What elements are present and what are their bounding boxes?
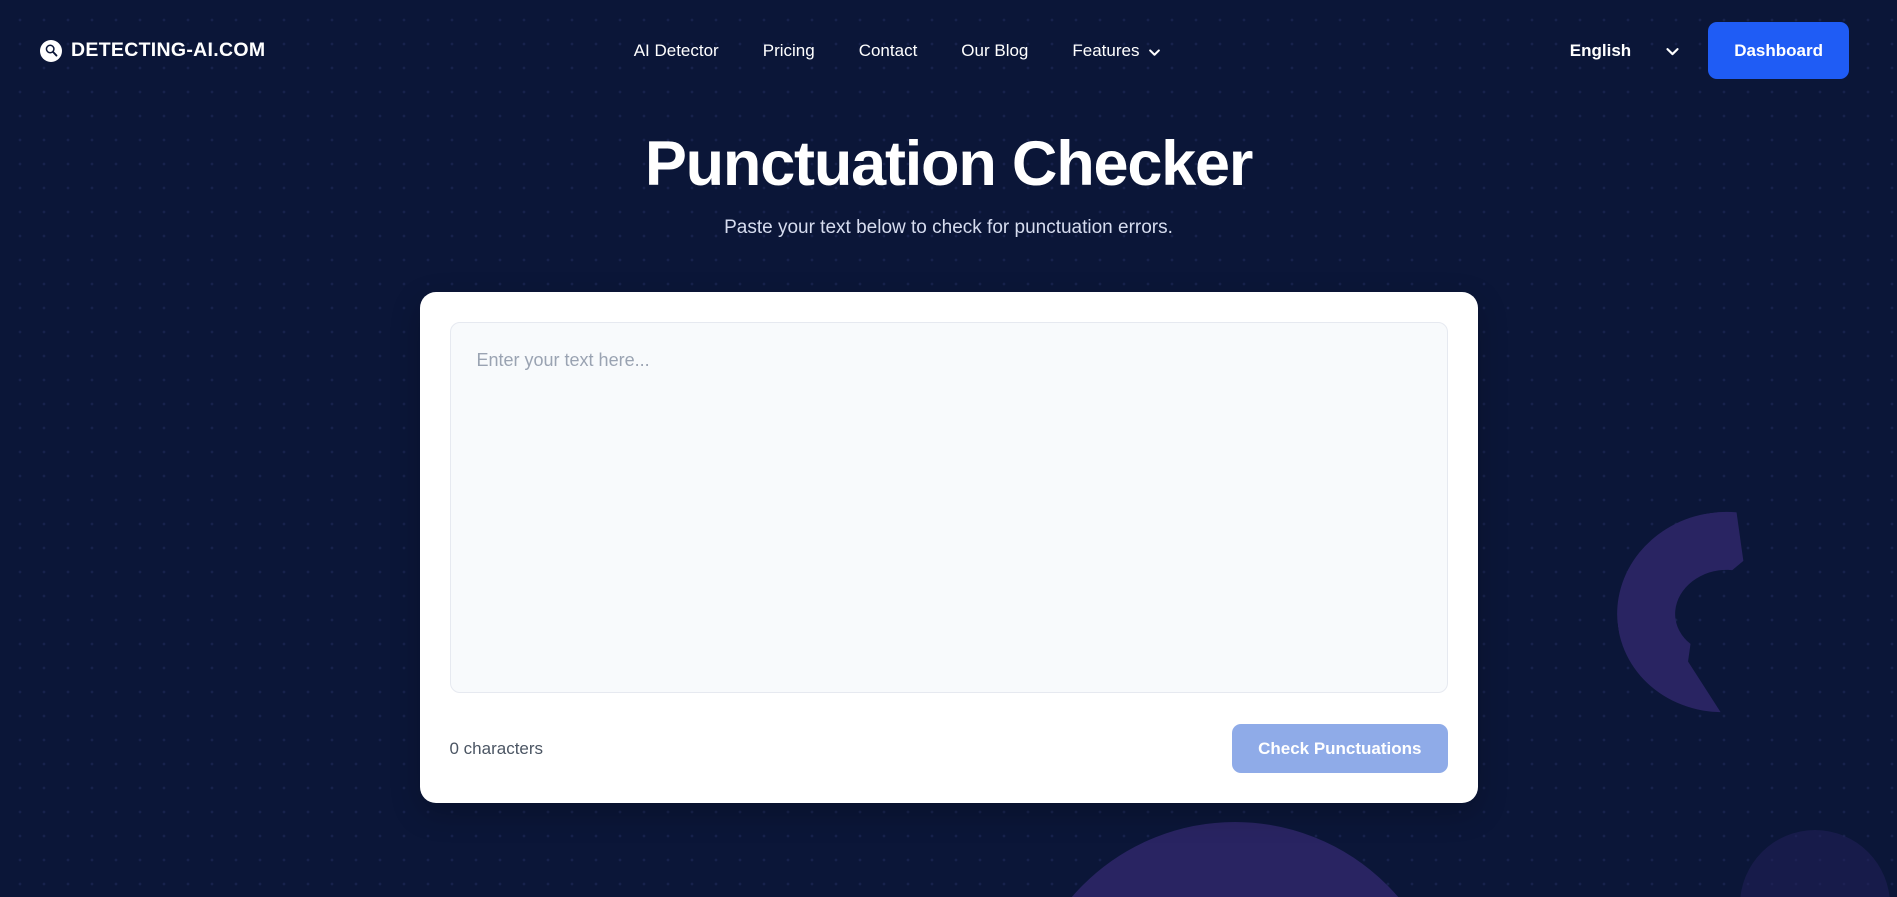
page-title: Punctuation Checker [0,130,1897,198]
language-selector[interactable]: English [1570,41,1708,61]
nav-label: AI Detector [634,41,719,61]
site-header: DETECTING-AI.COM AI Detector Pricing Con… [0,0,1897,101]
nav-item-pricing[interactable]: Pricing [763,41,815,61]
nav-label: Features [1072,41,1139,61]
main-navigation: AI Detector Pricing Contact Our Blog Fea… [225,41,1569,61]
dashboard-button[interactable]: Dashboard [1708,22,1849,79]
chevron-down-icon [1148,44,1161,57]
nav-item-our-blog[interactable]: Our Blog [961,41,1028,61]
nav-item-ai-detector[interactable]: AI Detector [634,41,719,61]
chevron-down-icon [1665,44,1678,57]
page-root: DETECTING-AI.COM AI Detector Pricing Con… [0,0,1897,897]
magnifier-icon [40,40,62,62]
decorative-circle-shape [1740,830,1890,897]
character-count: 0 characters [450,739,544,759]
page-subtitle: Paste your text below to check for punct… [0,217,1897,239]
nav-label: Pricing [763,41,815,61]
nav-item-contact[interactable]: Contact [859,41,918,61]
nav-label: Contact [859,41,918,61]
editor-card: 0 characters Check Punctuations [420,292,1478,803]
language-label: English [1570,41,1631,61]
decorative-arc-shape [1604,498,1845,726]
nav-item-features[interactable]: Features [1072,41,1161,61]
hero-section: Punctuation Checker Paste your text belo… [0,130,1897,239]
editor-footer: 0 characters Check Punctuations [450,724,1448,773]
text-input[interactable] [450,322,1448,693]
header-actions: English Dashboard [1570,22,1849,79]
nav-label: Our Blog [961,41,1028,61]
check-punctuations-button[interactable]: Check Punctuations [1232,724,1447,773]
decorative-donut-shape [1020,822,1450,897]
